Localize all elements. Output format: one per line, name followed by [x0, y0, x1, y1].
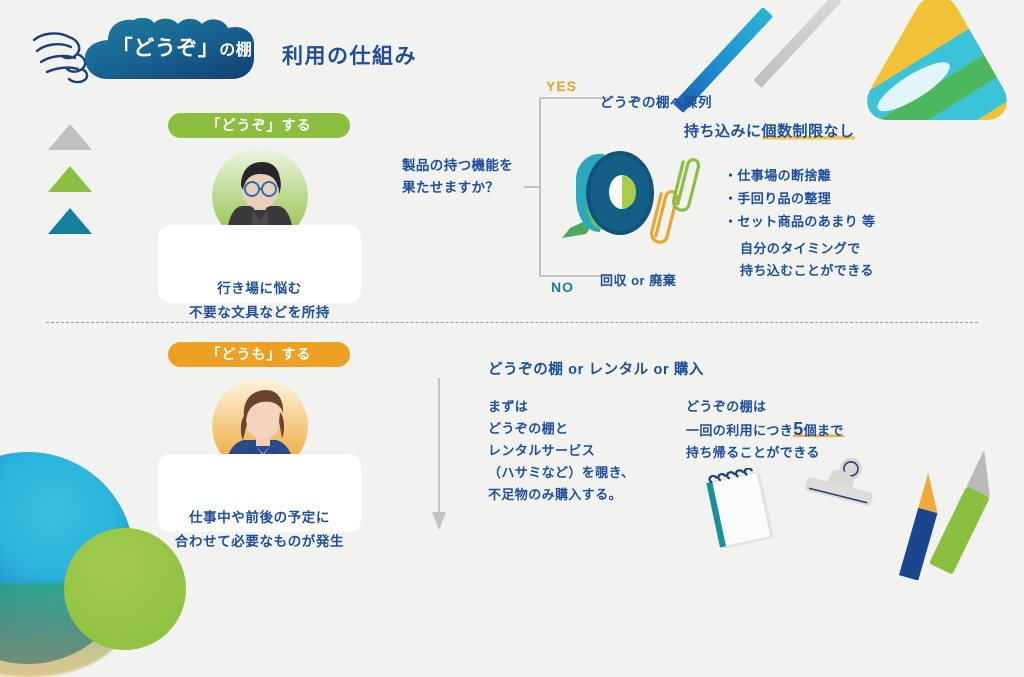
label-yes: YES: [546, 78, 577, 94]
lower-left-line: 不足物のみ購入する。: [488, 484, 635, 506]
limit-prefix: 一回の利用につき: [686, 423, 793, 438]
bulldog-clip-icon: [800, 455, 882, 521]
timing-line1: 自分のタイミングで: [740, 238, 874, 260]
card-receive-line2: 合わせて必要なものが発生: [158, 530, 361, 554]
triangle-green: [48, 166, 92, 192]
list-item: ・仕事場の断捨離: [724, 164, 875, 187]
paperclip-green-icon: [672, 148, 706, 220]
decision-question-line2: 果たせますか？: [402, 177, 513, 199]
card-receive: 仕事中や前後の予定に 合わせて必要なものが発生: [158, 454, 361, 532]
flow-arrow-down: [432, 378, 446, 530]
card-receive-line1: 仕事中や前後の予定に: [158, 506, 361, 530]
spiral-notepad-icon: [700, 468, 786, 554]
page-title: 利用の仕組み: [282, 40, 417, 70]
pencil-green-icon: [930, 446, 1010, 576]
lower-heading: どうぞの棚 or レンタル or 購入: [488, 358, 704, 379]
branch-no-text: 回収 or 廃棄: [600, 270, 676, 289]
no-limit-prefix: 持ち込みに: [684, 123, 762, 140]
no-limit-highlight: 個数制限なし: [762, 123, 855, 141]
lower-right-text: どうぞの棚は 一回の利用につき5個まで 持ち帰ることができる: [686, 396, 844, 464]
lower-right-line2: 一回の利用につき5個まで: [686, 418, 844, 442]
lower-left-line: レンタルサービス: [488, 440, 635, 462]
card-donate-line2: 不要な文具などを所持: [158, 301, 361, 325]
lower-right-line1: どうぞの棚は: [686, 396, 844, 418]
list-item: ・セット商品のあまり 等: [724, 210, 875, 233]
label-no: NO: [551, 279, 574, 295]
decision-question-line1: 製品の持つ機能を: [402, 155, 513, 177]
logo-text: 「どうぞ」の棚: [96, 34, 268, 66]
card-donate-line1: 行き場に悩む: [158, 277, 361, 301]
lower-left-line: どうぞの棚と: [488, 418, 635, 440]
rounded-triangle-deco: [862, 0, 1012, 124]
list-item: ・手回り品の整理: [724, 187, 875, 210]
triangle-teal: [48, 208, 92, 234]
badge-receive: 「どうも」する: [168, 342, 350, 367]
card-donate: 行き場に悩む 不要な文具などを所持: [158, 225, 361, 303]
slide-canvas: 「どうぞ」の棚 利用の仕組み 「どうぞ」する 行き場に悩む 不要な文具などを所持…: [0, 0, 1024, 573]
logo-text-main: 「どうぞ」: [112, 37, 220, 60]
no-limit-text: 持ち込みに個数制限なし: [684, 120, 855, 141]
lower-left-text: まずは どうぞの棚と レンタルサービス （ハサミなど）を覗き、 不足物のみ購入す…: [488, 396, 635, 506]
lower-left-line: まずは: [488, 396, 635, 418]
benefit-bullets: ・仕事場の断捨離 ・手回り品の整理 ・セット商品のあまり 等: [724, 164, 875, 233]
limit-number: 5: [793, 419, 803, 439]
triangle-gray: [48, 124, 92, 150]
logo-text-suffix: の棚: [219, 42, 252, 59]
timing-text: 自分のタイミングで 持ち込むことができる: [740, 238, 874, 282]
limit-suffix: 個まで: [804, 423, 844, 438]
lower-left-line: （ハサミなど）を覗き、: [488, 462, 635, 484]
decision-question: 製品の持つ機能を 果たせますか？: [402, 155, 513, 199]
branch-yes-text: どうぞの棚へ陳列: [600, 91, 712, 111]
badge-donate: 「どうぞ」する: [168, 113, 350, 138]
timing-line2: 持ち込むことができる: [740, 260, 874, 282]
